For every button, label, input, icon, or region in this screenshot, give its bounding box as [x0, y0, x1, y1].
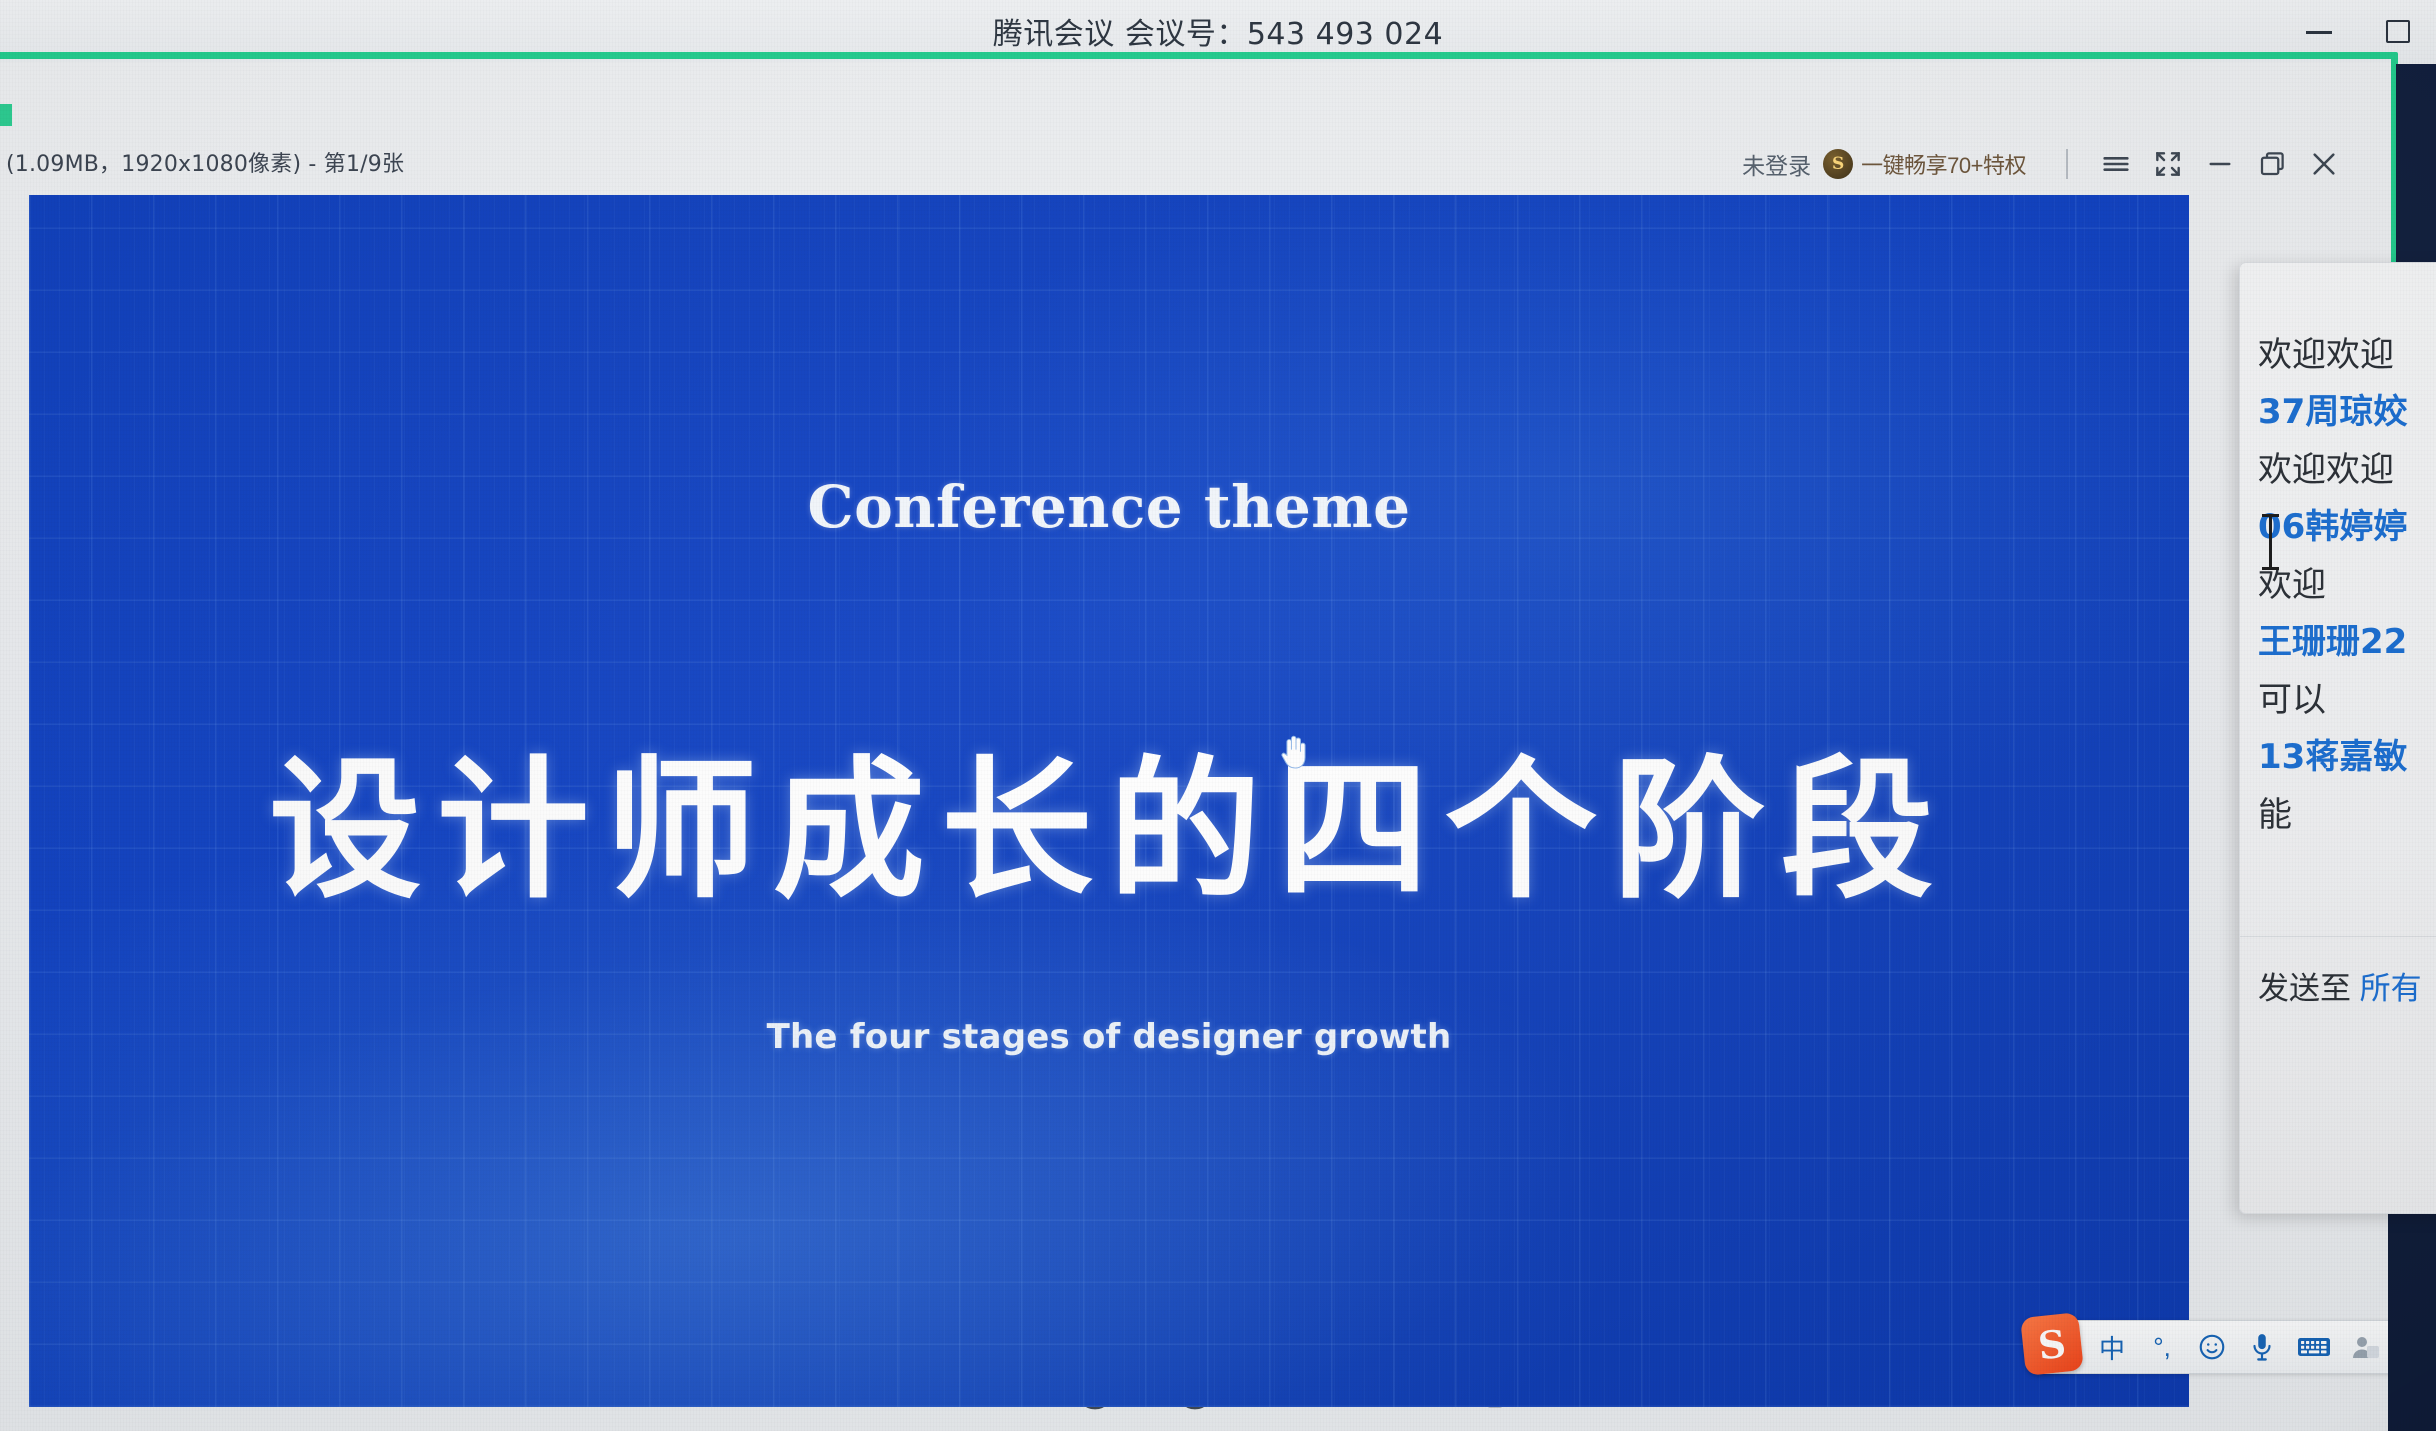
login-status-label[interactable]: 未登录	[1742, 147, 1811, 181]
viewer-close-icon[interactable]	[2298, 144, 2350, 184]
viewer-toolbar: 未登录 S 一键畅享70+特权	[1742, 144, 2350, 184]
slide-eyebrow: Conference theme	[29, 473, 2189, 541]
voice-input-icon[interactable]	[2247, 1327, 2277, 1367]
chat-panel[interactable]: 欢迎欢迎 37周琼姣 欢迎欢迎 06韩婷婷 欢迎 王珊珊22 可以 13蒋嘉敏 …	[2239, 262, 2436, 1214]
viewer-maximize-icon[interactable]	[2246, 144, 2298, 184]
chat-sender: 王珊珊22	[2258, 622, 2436, 663]
soft-keyboard-icon[interactable]	[2297, 1327, 2331, 1367]
chat-message-list: 欢迎欢迎 37周琼姣 欢迎欢迎 06韩婷婷 欢迎 王珊珊22 可以 13蒋嘉敏 …	[2240, 335, 2436, 852]
chat-send-to-label: 发送至	[2258, 971, 2351, 1006]
slide-content: Conference theme 设计师成长的四个阶段 The four sta…	[29, 195, 2189, 1407]
meeting-title: 腾讯会议 会议号：543 493 024	[993, 9, 1443, 53]
background-window-strip-bottom	[2388, 1188, 2436, 1431]
menu-icon[interactable]	[2090, 144, 2142, 184]
chat-message: 欢迎欢迎	[2258, 450, 2436, 491]
chat-message: 能	[2258, 795, 2436, 836]
meeting-minimize-button[interactable]	[2302, 14, 2336, 48]
chat-send-to-row[interactable]: 发送至 所有	[2258, 963, 2422, 1008]
viewer-minimize-icon[interactable]	[2194, 144, 2246, 184]
chat-message: 欢迎	[2258, 565, 2436, 606]
file-info-label: (1.09MB，1920x1080像素) - 第1/9张	[6, 146, 404, 178]
sogou-ime-bar[interactable]: S 中 °,	[2038, 1320, 2390, 1374]
slide-subtitle: The four stages of designer growth	[29, 1017, 2189, 1057]
chat-divider	[2240, 936, 2436, 937]
promo-banner[interactable]: S 一键畅享70+特权	[1823, 148, 2026, 180]
chat-sender: 37周琼姣	[2258, 392, 2436, 433]
text-cursor-icon	[2269, 514, 2272, 570]
slide-title: 设计师成长的四个阶段	[29, 755, 2189, 907]
screen-share-left-marker	[0, 104, 12, 126]
fullscreen-icon[interactable]	[2142, 144, 2194, 184]
language-mode-icon[interactable]: 中	[2097, 1327, 2127, 1367]
sogou-logo-icon[interactable]: S	[2020, 1312, 2084, 1376]
promo-badge-icon: S	[1823, 149, 1853, 179]
screen: 腾讯会议 会议号：543 493 024 (1.09MB，1920x1080像素…	[0, 0, 2436, 1431]
punctuation-mode-icon[interactable]: °,	[2147, 1327, 2177, 1367]
meeting-maximize-button[interactable]	[2380, 14, 2414, 48]
chat-sender: 13蒋嘉敏	[2258, 737, 2436, 778]
user-profile-icon[interactable]	[2351, 1327, 2381, 1367]
toolbar-divider	[2066, 149, 2068, 179]
hand-cursor-icon	[1277, 731, 1311, 771]
chat-sender: 06韩婷婷	[2258, 507, 2436, 548]
chat-send-to-value[interactable]: 所有	[2360, 971, 2422, 1006]
image-viewer-window: (1.09MB，1920x1080像素) - 第1/9张 未登录 S 一键畅享7…	[0, 62, 2390, 1431]
meeting-title-bar: 腾讯会议 会议号：543 493 024	[0, 0, 2436, 62]
slide-image[interactable]: Conference theme 设计师成长的四个阶段 The four sta…	[29, 195, 2189, 1407]
promo-label: 一键畅享70+特权	[1861, 148, 2026, 180]
meeting-window-controls	[2302, 0, 2428, 62]
chat-message: 欢迎欢迎	[2258, 335, 2436, 376]
emoji-picker-icon[interactable]	[2197, 1327, 2227, 1367]
chat-message: 可以	[2258, 680, 2436, 721]
